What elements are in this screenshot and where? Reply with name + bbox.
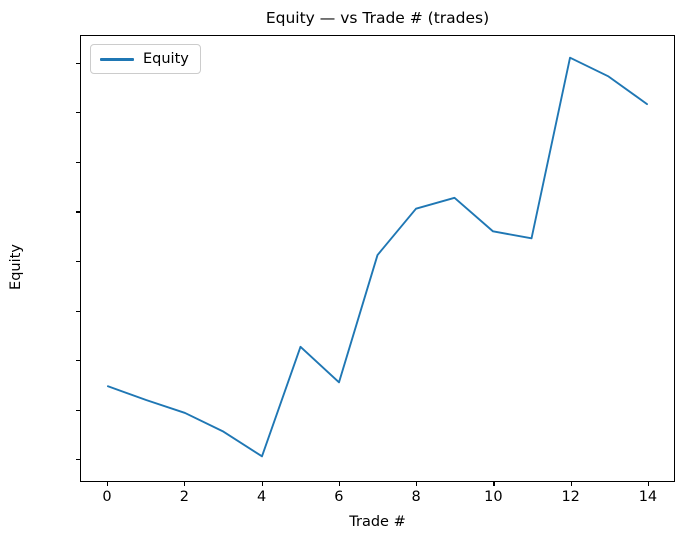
y-axis-label: Equity bbox=[8, 207, 24, 327]
legend-label-equity: Equity bbox=[143, 51, 189, 67]
chart-figure: Equity — vs Trade # (trades) 19019520020… bbox=[0, 0, 687, 546]
y-tick-mark bbox=[76, 112, 80, 113]
chart-legend: Equity bbox=[90, 44, 201, 74]
x-tick-mark bbox=[339, 482, 340, 486]
equity-line-series bbox=[81, 36, 674, 481]
x-tick-label: 2 bbox=[180, 489, 189, 505]
y-tick-mark bbox=[76, 261, 80, 262]
x-tick-label: 14 bbox=[639, 489, 657, 505]
x-tick-mark bbox=[571, 482, 572, 486]
x-axis-label: Trade # bbox=[80, 514, 675, 530]
x-tick-label: 10 bbox=[484, 489, 502, 505]
x-tick-mark bbox=[262, 482, 263, 486]
y-tick-mark bbox=[76, 459, 80, 460]
x-tick-label: 4 bbox=[257, 489, 266, 505]
y-tick-mark bbox=[76, 63, 80, 64]
x-tick-label: 0 bbox=[102, 489, 111, 505]
y-tick-mark bbox=[76, 311, 80, 312]
x-tick-label: 8 bbox=[412, 489, 421, 505]
equity-polyline bbox=[108, 58, 647, 457]
y-tick-mark bbox=[76, 211, 80, 212]
plot-area bbox=[80, 35, 675, 482]
chart-title: Equity — vs Trade # (trades) bbox=[80, 8, 675, 28]
x-tick-mark bbox=[416, 482, 417, 486]
x-tick-mark bbox=[184, 482, 185, 486]
y-tick-mark bbox=[76, 162, 80, 163]
x-tick-mark bbox=[107, 482, 108, 486]
x-tick-mark bbox=[493, 482, 494, 486]
y-tick-mark bbox=[76, 360, 80, 361]
legend-line-swatch-equity bbox=[100, 58, 134, 61]
x-tick-label: 12 bbox=[561, 489, 579, 505]
x-tick-mark bbox=[648, 482, 649, 486]
x-tick-label: 6 bbox=[334, 489, 343, 505]
y-tick-mark bbox=[76, 410, 80, 411]
